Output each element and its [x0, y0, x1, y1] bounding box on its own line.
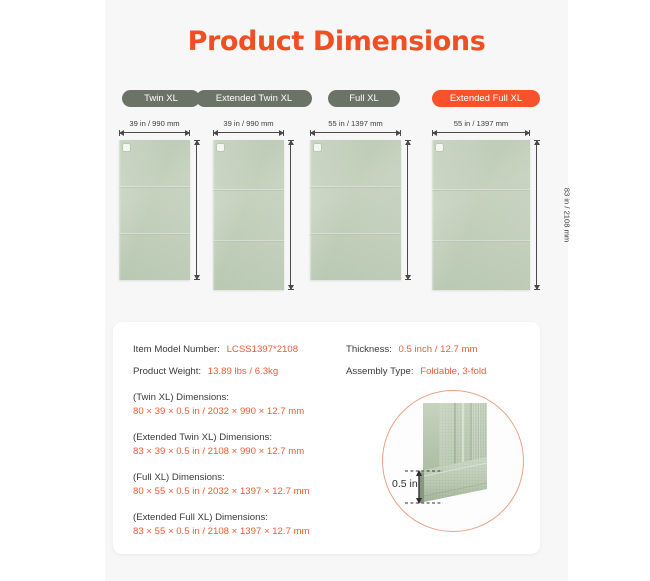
width-label-full-xl: 55 in / 1397 mm [310, 119, 401, 128]
mattress-fold-line [119, 186, 190, 188]
thickness-detail-inset [382, 390, 524, 532]
spec-assembly-type-label: Assembly Type: [346, 366, 414, 377]
page-title: Product Dimensions [105, 26, 568, 57]
dimension-value: 80 × 55 × 0.5 in / 2032 × 1397 × 12.7 mm [133, 486, 310, 497]
height-dimension-extended-full-xl: 83 in / 2108 mm [532, 140, 552, 290]
height-arrow-bottom-icon [194, 275, 200, 280]
dimension-entry-full-xl: (Full XL) Dimensions: 80 × 55 × 0.5 in /… [133, 472, 310, 497]
mattress-fold-line [432, 189, 530, 191]
dimension-entry-extended-twin-xl: (Extended Twin XL) Dimensions: 83 × 39 ×… [133, 432, 304, 457]
mattress-label-tag [217, 144, 224, 151]
mattress-label-tag [436, 144, 443, 151]
width-dimension-full-xl: 55 in / 1397 mm [310, 119, 401, 137]
height-dimension-full-xl: 80 in / 2032 mm [403, 140, 423, 280]
variant-pill-extended-twin-xl[interactable]: Extended Twin XL [196, 90, 312, 107]
width-arrow-right-icon [525, 130, 530, 136]
dimension-value: 80 × 39 × 0.5 in / 2032 × 990 × 12.7 mm [133, 406, 304, 417]
width-line [310, 132, 401, 133]
mattress-fold-line [310, 186, 401, 188]
width-arrow-right-icon [396, 130, 401, 136]
mattress-sheen [432, 140, 530, 290]
mattress-extended-twin-xl [213, 140, 284, 290]
height-line [196, 140, 197, 280]
variant-pill-twin-xl[interactable]: Twin XL [122, 90, 200, 107]
mattress-edge [432, 140, 434, 290]
mattress-label-tag [314, 144, 321, 151]
dimension-value: 83 × 39 × 0.5 in / 2108 × 990 × 12.7 mm [133, 446, 304, 457]
width-dimension-extended-twin-xl: 39 in / 990 mm [213, 119, 284, 137]
width-arrow-left-icon [310, 130, 315, 136]
width-label-extended-full-xl: 55 in / 1397 mm [432, 119, 530, 128]
height-dimension-twin-xl: 80 in / 2032 mm [192, 140, 212, 280]
height-line [407, 140, 408, 280]
width-arrow-left-icon [213, 130, 218, 136]
width-label-twin-xl: 39 in / 990 mm [119, 119, 190, 128]
spec-assembly-type: Assembly Type: Foldable, 3-fold [346, 366, 486, 377]
height-dimension-extended-twin-xl: 83 in / 2108 mm [286, 140, 306, 290]
height-arrow-top-icon [194, 140, 200, 145]
mattress-full-xl [310, 140, 401, 280]
mattress-sheen [213, 140, 284, 290]
width-arrow-left-icon [119, 130, 124, 136]
dimension-value: 83 × 55 × 0.5 in / 2108 × 1397 × 12.7 mm [133, 526, 310, 537]
width-dimension-twin-xl: 39 in / 990 mm [119, 119, 190, 137]
spec-model-number-label: Item Model Number: [133, 344, 220, 355]
mattress-fold-line [310, 233, 401, 235]
spec-model-number: Item Model Number: LCSS1397*2108 [133, 344, 298, 355]
dimension-label: (Twin XL) Dimensions: [133, 392, 304, 403]
spec-model-number-value: LCSS1397*2108 [227, 344, 298, 355]
variant-pill-full-xl[interactable]: Full XL [328, 90, 400, 107]
width-label-extended-twin-xl: 39 in / 990 mm [213, 119, 284, 128]
mattress-sheen [310, 140, 401, 280]
width-dimension-extended-full-xl: 55 in / 1397 mm [432, 119, 530, 137]
variant-pill-extended-full-xl[interactable]: Extended Full XL [432, 90, 540, 107]
mattress-fold-line [119, 233, 190, 235]
spec-product-weight-value: 13.89 lbs / 6.3kg [208, 366, 278, 377]
width-arrow-right-icon [185, 130, 190, 136]
mattress-fold-line [432, 240, 530, 242]
thickness-callout: 0.5 in [392, 478, 418, 490]
height-arrow-top-icon [405, 140, 411, 145]
dimension-entry-twin-xl: (Twin XL) Dimensions: 80 × 39 × 0.5 in /… [133, 392, 304, 417]
mattress-edge [213, 140, 215, 290]
spec-product-weight: Product Weight: 13.89 lbs / 6.3kg [133, 366, 278, 377]
height-line [290, 140, 291, 290]
height-label-extended-full-xl: 83 in / 2108 mm [563, 188, 572, 242]
height-line [536, 140, 537, 290]
spec-thickness-label: Thickness: [346, 344, 392, 355]
height-arrow-bottom-icon [288, 285, 294, 290]
mattress-sheen [119, 140, 190, 280]
spec-thickness-value: 0.5 inch / 12.7 mm [399, 344, 478, 355]
width-arrow-left-icon [432, 130, 437, 136]
mattress-fold-line [213, 189, 284, 191]
dimension-label: (Extended Full XL) Dimensions: [133, 512, 310, 523]
spec-assembly-type-value: Foldable, 3-fold [420, 366, 486, 377]
height-arrow-bottom-icon [534, 285, 540, 290]
width-line [213, 132, 284, 133]
infographic-root: Product Dimensions Twin XL 39 in / 990 m… [0, 0, 650, 581]
mattress-edge [119, 140, 121, 280]
mattress-label-tag [123, 144, 130, 151]
width-arrow-right-icon [279, 130, 284, 136]
height-arrow-bottom-icon [405, 275, 411, 280]
width-line [432, 132, 530, 133]
spec-thickness: Thickness: 0.5 inch / 12.7 mm [346, 344, 477, 355]
mattress-edge [310, 140, 312, 280]
dimension-entry-extended-full-xl: (Extended Full XL) Dimensions: 83 × 55 ×… [133, 512, 310, 537]
dimension-label: (Full XL) Dimensions: [133, 472, 310, 483]
dimension-label: (Extended Twin XL) Dimensions: [133, 432, 304, 443]
spec-product-weight-label: Product Weight: [133, 366, 201, 377]
height-arrow-top-icon [288, 140, 294, 145]
folded-mattress-photo [383, 391, 523, 531]
height-arrow-top-icon [534, 140, 540, 145]
mattress-fold-line [213, 240, 284, 242]
width-line [119, 132, 190, 133]
mattress-extended-full-xl [432, 140, 530, 290]
mattress-twin-xl [119, 140, 190, 280]
